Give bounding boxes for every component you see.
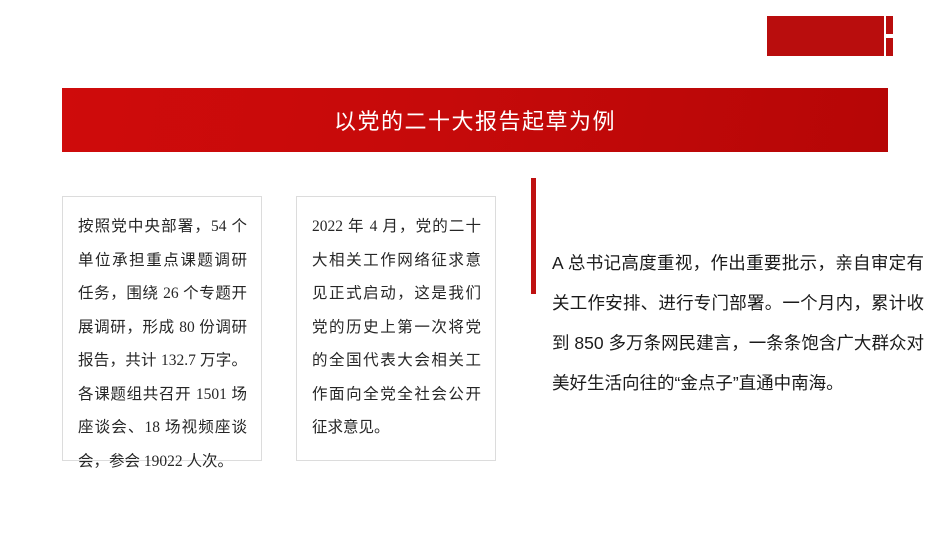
- statement-text: A 总书记高度重视，作出重要批示，亲自审定有关工作安排、进行专门部署。一个月内，…: [552, 243, 924, 403]
- fact-box-1-text: 按照党中央部署，54 个单位承担重点课题调研任务，围绕 26 个专题开展调研，形…: [78, 210, 247, 478]
- slide-title: 以党的二十大报告起草为例: [334, 104, 616, 136]
- fact-box-2: 2022 年 4 月，党的二十大相关工作网络征求意见正式启动，这是我们党的历史上…: [296, 196, 496, 461]
- fact-box-1: 按照党中央部署，54 个单位承担重点课题调研任务，围绕 26 个专题开展调研，形…: [62, 196, 262, 461]
- corner-bar-chip-top: [886, 16, 893, 34]
- corner-bar-chip-bottom: [886, 38, 893, 56]
- fact-box-2-text: 2022 年 4 月，党的二十大相关工作网络征求意见正式启动，这是我们党的历史上…: [312, 210, 481, 445]
- slide-canvas: 以党的二十大报告起草为例 按照党中央部署，54 个单位承担重点课题调研任务，围绕…: [0, 0, 950, 535]
- title-banner: 以党的二十大报告起草为例: [62, 88, 888, 152]
- corner-bar-main: [767, 16, 884, 56]
- corner-decoration: [767, 16, 893, 56]
- statement-accent-bar: [531, 178, 536, 294]
